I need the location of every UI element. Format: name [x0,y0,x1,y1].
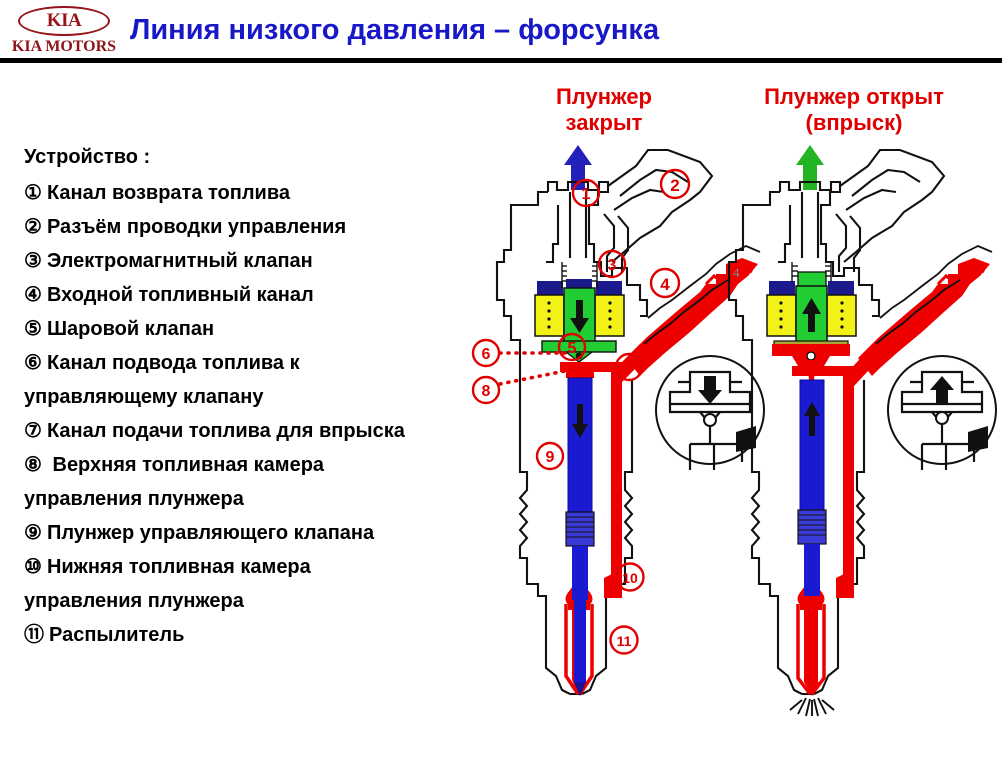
inset-ball-valve-open [888,356,996,470]
injector-left: 4 1 2 3 4 5 6 7 [473,145,764,696]
callout-7: 7 [625,360,634,377]
callout-3: 3 [608,257,617,274]
control-plunger-left [566,372,594,696]
injector-right [729,145,996,716]
injector-diagrams: 4 1 2 3 4 5 6 7 [0,0,1002,760]
callout-6: 6 [482,346,491,363]
callout-2: 2 [670,176,679,195]
callout-10: 10 [622,570,638,586]
small-label-4: 4 [733,265,740,280]
inset-ball-valve-closed [656,356,764,470]
callout-4: 4 [660,275,670,294]
callout-5: 5 [568,340,577,357]
control-plunger-right [798,380,826,596]
nozzle-spray-icon [790,698,834,716]
callout-11: 11 [617,633,632,649]
callout-9: 9 [546,449,555,466]
callout-1: 1 [582,186,591,203]
callout-8: 8 [482,383,491,400]
solenoid-valve-right [767,262,856,380]
